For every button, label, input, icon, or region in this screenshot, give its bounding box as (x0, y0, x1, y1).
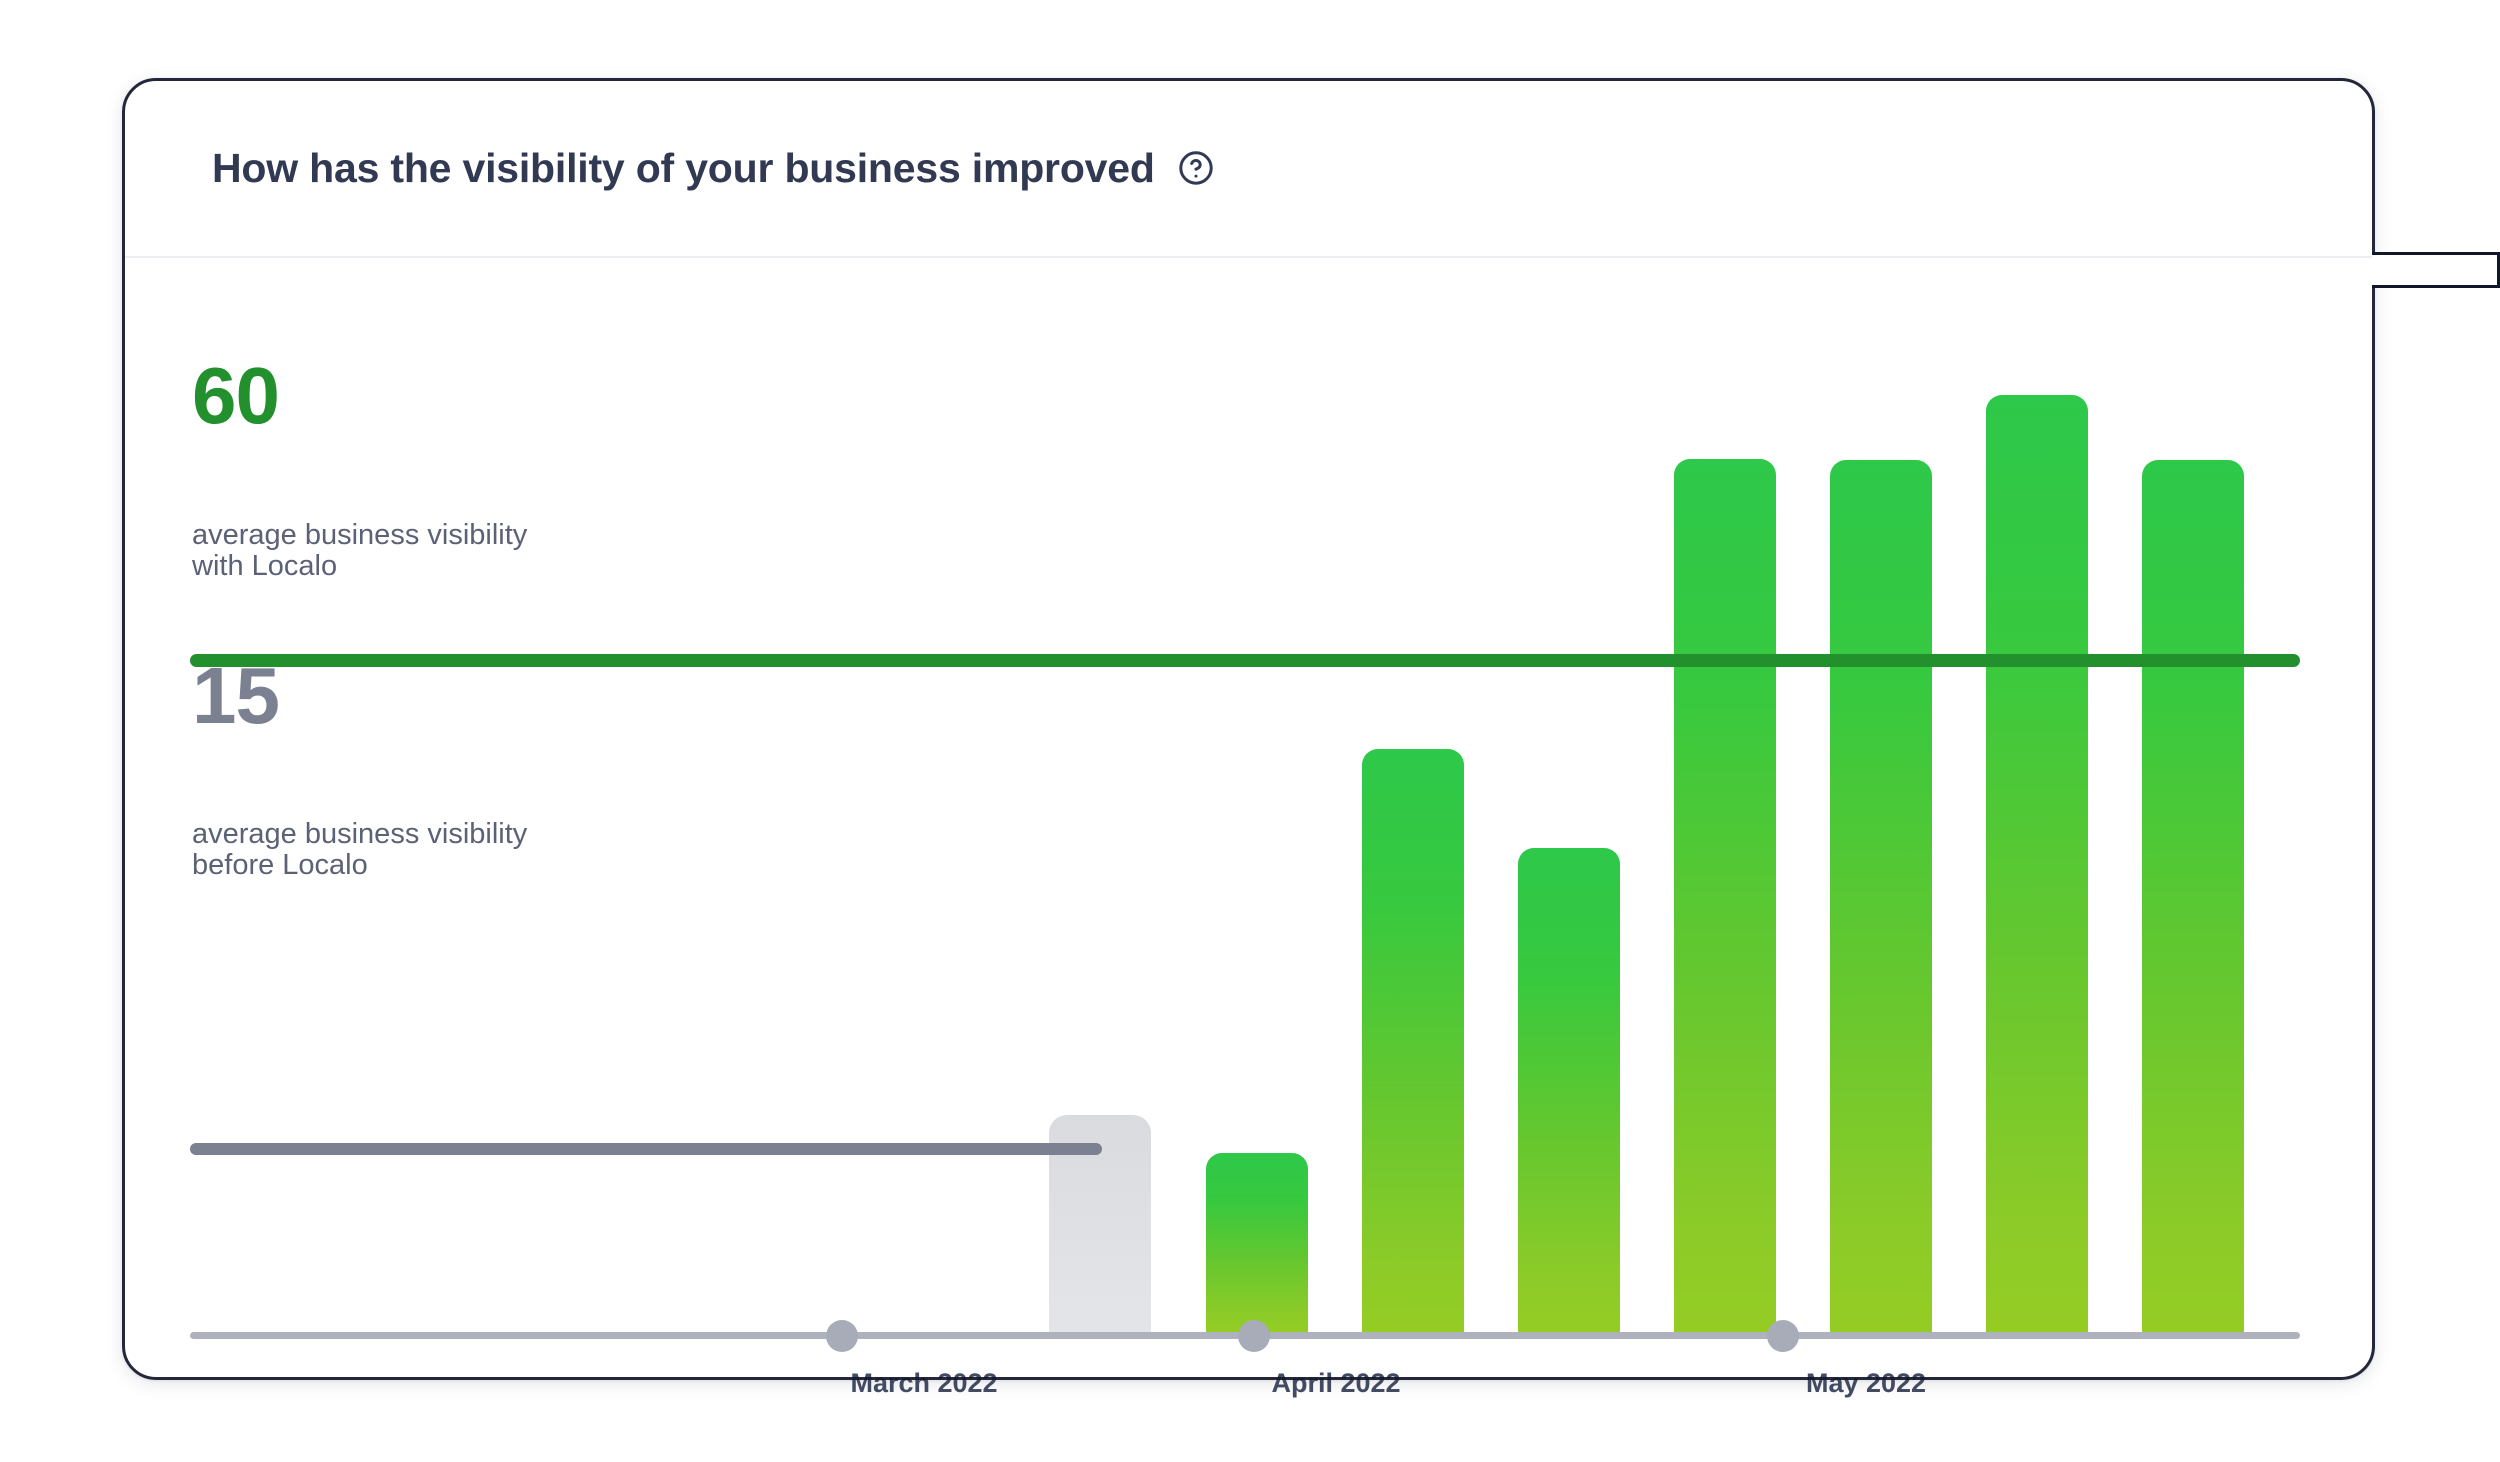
bar-item[interactable] (2142, 460, 2244, 1335)
bar-item[interactable] (1518, 848, 1620, 1335)
stat-caption-line-2: before Localo (192, 850, 527, 881)
stat-caption-line-1: average business visibility (192, 520, 527, 551)
axis-tick-dot (1767, 1320, 1799, 1352)
stat-caption-line-2: with Localo (192, 551, 527, 582)
stat-caption-before-localo: average business visibility before Local… (192, 819, 527, 880)
bar-item[interactable] (1206, 1153, 1308, 1335)
stat-value-with-localo: 60 (192, 358, 527, 434)
screenshot-root: How has the visibility of your business … (0, 0, 2500, 1462)
bar-item[interactable] (1362, 749, 1464, 1335)
reference-line-before-localo (190, 1143, 1102, 1155)
bar-item[interactable] (1986, 395, 2088, 1335)
card-header: How has the visibility of your business … (124, 80, 2373, 258)
bar-item[interactable] (1830, 460, 1932, 1335)
help-circle-icon[interactable] (1177, 149, 1215, 187)
axis-label-april: April 2022 (1271, 1368, 1400, 1399)
page-title: How has the visibility of your business … (212, 145, 1155, 192)
visibility-chart-card: How has the visibility of your business … (122, 78, 2375, 1380)
stat-caption-with-localo: average business visibility with Localo (192, 520, 527, 581)
axis-label-march: March 2022 (850, 1368, 997, 1399)
window-frame-tab (2372, 252, 2500, 288)
stat-caption-line-1: average business visibility (192, 819, 527, 850)
stat-before-localo: 15 average business visibility before Lo… (192, 658, 527, 880)
axis-tick-dot (1238, 1320, 1270, 1352)
stat-value-before-localo: 15 (192, 658, 527, 734)
chart-plot-area: 60 average business visibility with Loca… (124, 258, 2373, 1378)
axis-label-may: May 2022 (1806, 1368, 1926, 1399)
axis-tick-dot (826, 1320, 858, 1352)
stat-with-localo: 60 average business visibility with Loca… (192, 358, 527, 581)
bar-item[interactable] (1674, 459, 1776, 1335)
